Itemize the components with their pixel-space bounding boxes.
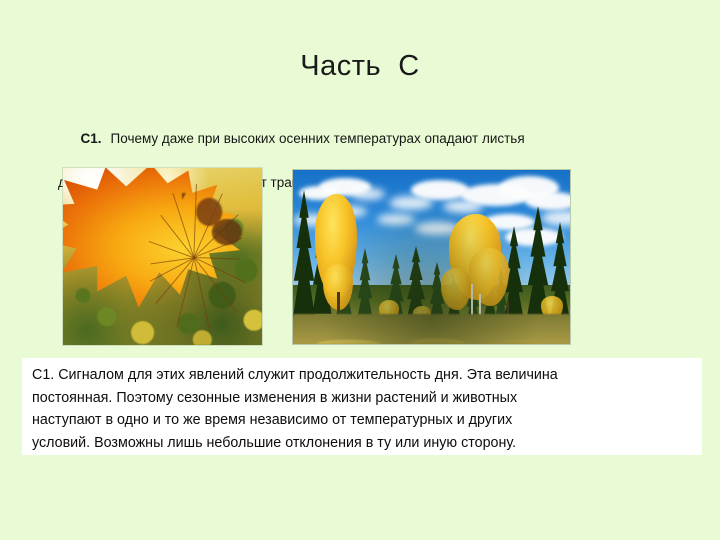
forest-grass — [293, 314, 570, 344]
question-line-1: C1.Почему даже при высоких осенних темпе… — [58, 106, 638, 172]
dry-leaf-cluster — [182, 193, 250, 257]
answer-line-2: постоянная. Поэтому сезонные изменения в… — [32, 387, 692, 410]
answer-box: C1. Сигналом для этих явлений служит про… — [22, 358, 702, 455]
page-title: Часть С — [0, 48, 720, 84]
answer-line-4: условий. Возможны лишь небольшие отклоне… — [32, 432, 692, 455]
answer-text: C1. Сигналом для этих явлений служит про… — [32, 364, 692, 454]
autumn-maple-leaf-photo — [63, 168, 262, 345]
question-number: C1. — [81, 131, 111, 146]
autumn-forest-photo — [293, 170, 570, 344]
answer-line-1: C1. Сигналом для этих явлений служит про… — [32, 364, 692, 387]
slide-canvas: Часть С C1.Почему даже при высоких осенн… — [0, 0, 720, 540]
question-text-line-1: Почему даже при высоких осенних температ… — [111, 131, 525, 146]
answer-line-3: наступают в одно и то же время независим… — [32, 409, 692, 432]
